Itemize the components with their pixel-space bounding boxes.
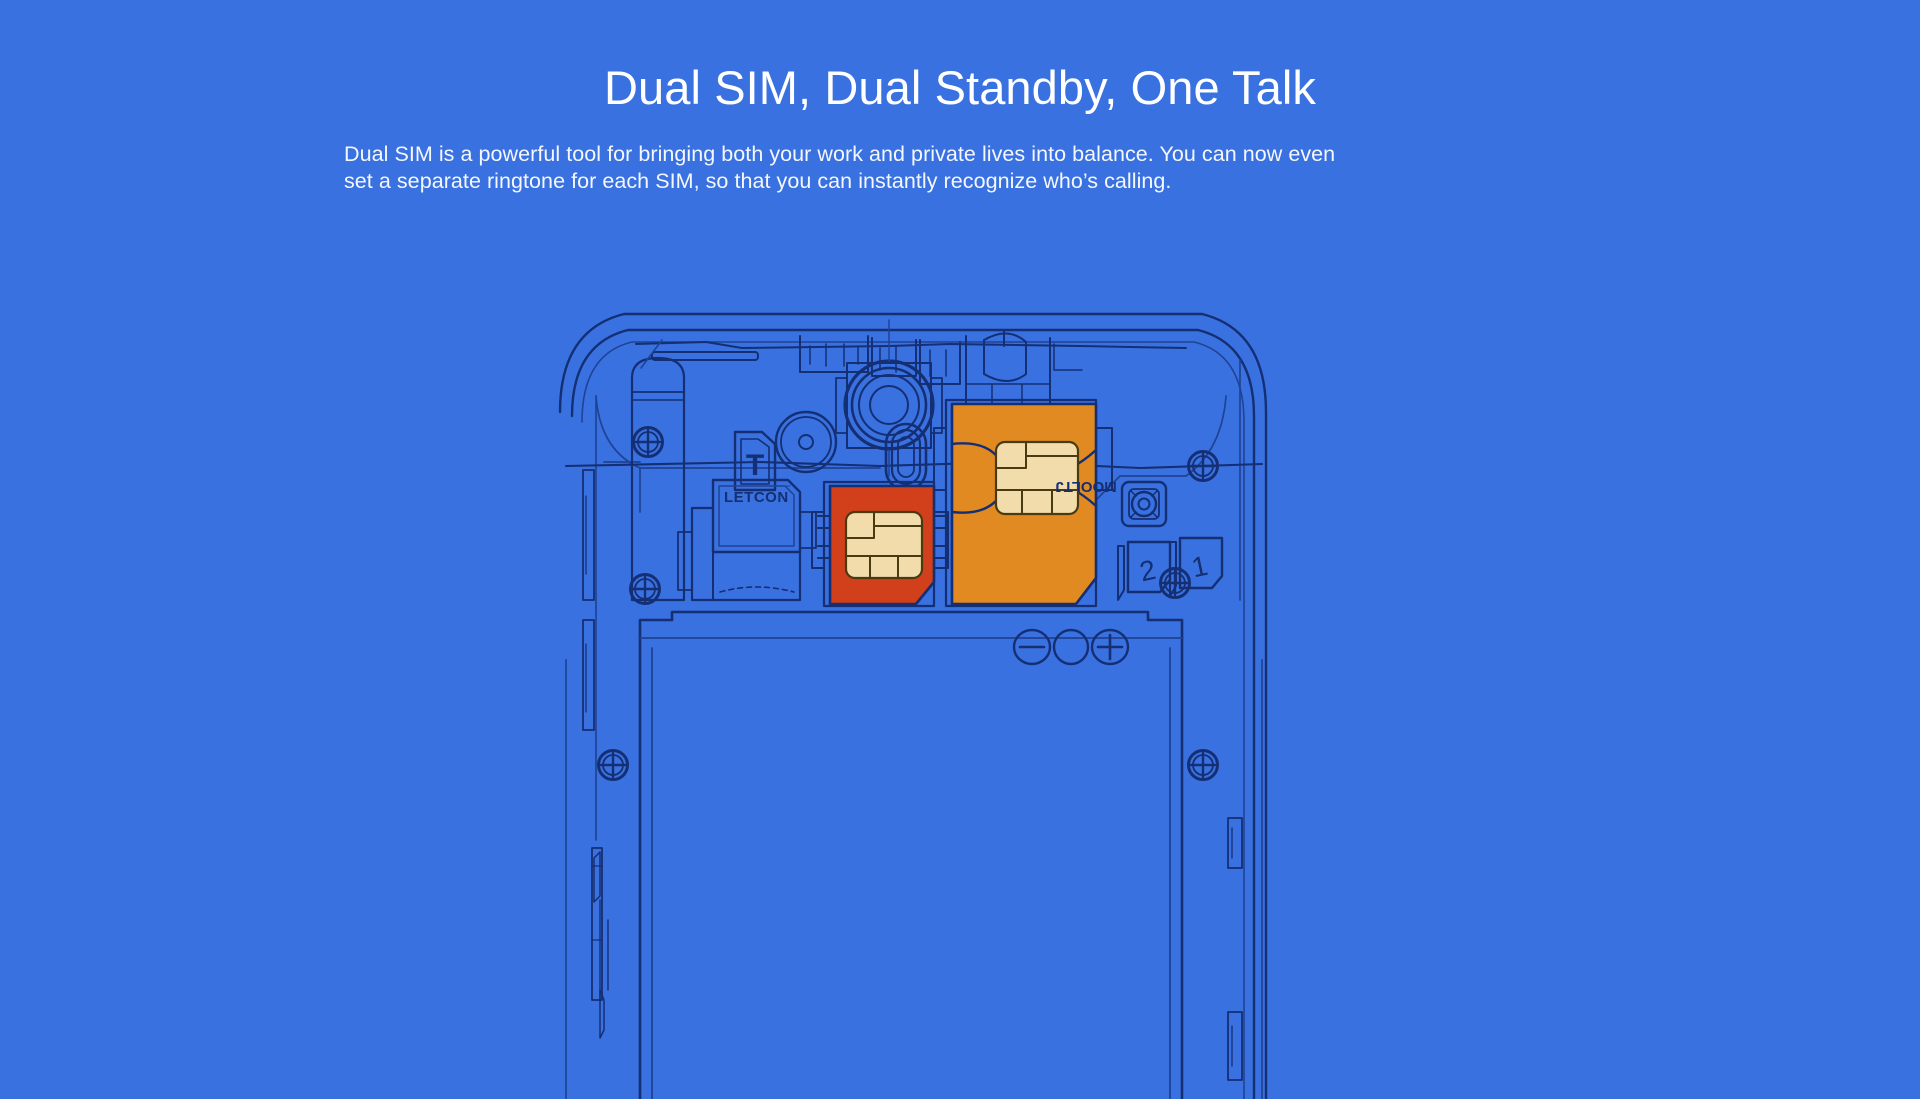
microsd-slot: LETCON (678, 480, 816, 600)
screw-bottom-left (599, 751, 628, 780)
sim-slot-marker-1: 1 (1170, 538, 1222, 596)
text-block: Dual SIM, Dual Standby, One Talk Dual SI… (0, 0, 1920, 195)
sim-card-micro[interactable] (818, 486, 946, 604)
sim-slot-marker-1-label: 1 (1189, 550, 1211, 584)
right-side-rail (1228, 818, 1242, 1080)
bottom-seams (566, 660, 1262, 1099)
battery-contact-positive (1092, 630, 1128, 664)
slide-root: Dual SIM, Dual Standby, One Talk Dual SI… (0, 0, 1920, 1099)
screw-top-right (1189, 452, 1218, 481)
sim-slot-marker-2-label: 2 (1137, 554, 1159, 588)
sim-slot-markers: 2 1 (1118, 538, 1222, 600)
battery-contact-neutral (1054, 630, 1088, 664)
phone-blueprint-svg: T LETCON (0, 300, 1920, 1099)
microsd-card-icon: T (735, 432, 775, 490)
sim-brand-label: MOOLTJ (1055, 478, 1116, 495)
vibration-motor (1122, 482, 1166, 526)
battery-contact-negative (1014, 630, 1050, 664)
sim-card-standard[interactable]: MOOLTJ (952, 404, 1117, 604)
battery-contacts (1014, 630, 1128, 664)
battery-bay (640, 612, 1182, 1099)
microsd-t-glyph: T (746, 449, 764, 482)
screw-top-left (634, 428, 663, 457)
sim-micro-chip (846, 512, 922, 578)
screw-bottom-right (1189, 751, 1218, 780)
page-title: Dual SIM, Dual Standby, One Talk (0, 0, 1920, 115)
subcopy-block: Dual SIM is a powerful tool for bringing… (344, 115, 1576, 196)
phone-illustration: T LETCON (0, 300, 1920, 1099)
sim-standard-chip (996, 442, 1078, 514)
subcopy-line-1: Dual SIM is a powerful tool for bringing… (344, 141, 1576, 168)
subcopy-line-2: set a separate ringtone for each SIM, so… (344, 168, 1576, 195)
microsd-brand-label: LETCON (724, 489, 789, 506)
